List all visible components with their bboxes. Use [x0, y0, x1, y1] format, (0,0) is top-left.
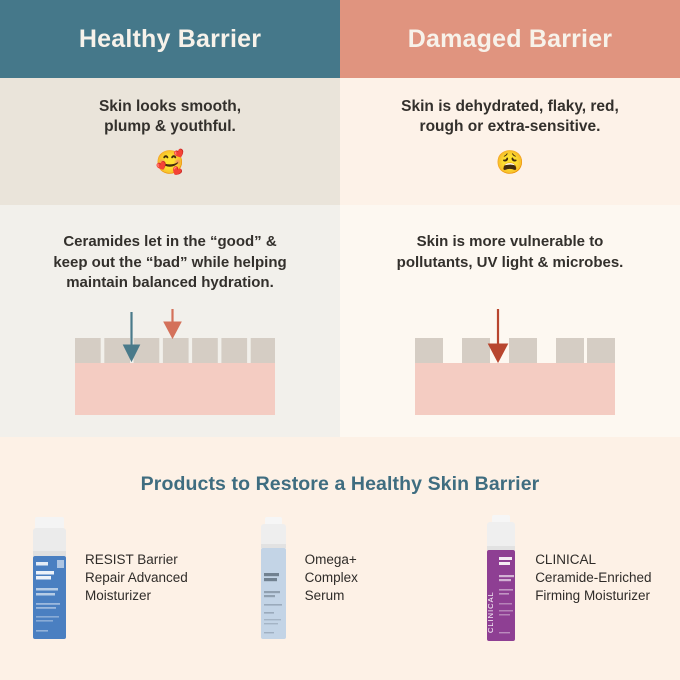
omega-complex-serum-bottle [253, 515, 293, 641]
damaged-barrier-title: Damaged Barrier [408, 27, 612, 52]
healthy-barrier-column: Healthy Barrier Skin looks smooth, plump… [0, 0, 340, 437]
product-item-clinical[interactable]: CLINICAL CLINICAL Ceramide-Enriched Firm… [453, 513, 680, 643]
damaged-barrier-diagram [340, 305, 680, 420]
healthy-barrier-header: Healthy Barrier [0, 0, 340, 78]
healthy-lead-block: Skin looks smooth, plump & youthful. 🥰 [0, 97, 340, 174]
product-item-resist[interactable]: RESIST Barrier Repair Advanced Moisturiz… [0, 513, 227, 643]
product-name-resist: RESIST Barrier Repair Advanced Moisturiz… [85, 551, 188, 605]
irritant-arrow [489, 309, 508, 362]
products-section-title: Products to Restore a Healthy Skin Barri… [0, 437, 680, 496]
damaged-body-text: Skin is more vulnerable to pollutants, U… [340, 232, 680, 273]
healthy-brick-row [75, 338, 275, 363]
resist-barrier-repair-moisturizer-bottle [26, 515, 73, 641]
smiling-face-with-hearts-emoji: 🥰 [0, 151, 340, 174]
damaged-barrier-header: Damaged Barrier [340, 0, 680, 78]
damaged-lead-text: Skin is dehydrated, flaky, red, rough or… [340, 97, 680, 138]
bad-ingredient-arrow [164, 309, 181, 338]
damaged-barrier-column: Damaged Barrier Skin is dehydrated, flak… [340, 0, 680, 437]
clinical-ceramide-firming-moisturizer-bottle: CLINICAL [479, 513, 523, 643]
product-name-clinical: CLINICAL Ceramide-Enriched Firming Moist… [535, 551, 651, 605]
healthy-barrier-title: Healthy Barrier [79, 27, 261, 52]
healthy-barrier-diagram [0, 305, 340, 420]
damaged-lead-block: Skin is dehydrated, flaky, red, rough or… [340, 97, 680, 174]
healthy-body-block: Ceramides let in the “good” & keep out t… [0, 232, 340, 294]
product-item-omega[interactable]: Omega+ Complex Serum [227, 513, 454, 643]
weary-face-emoji: 😩 [340, 151, 680, 174]
product-name-omega: Omega+ Complex Serum [305, 551, 358, 605]
products-section: Products to Restore a Healthy Skin Barri… [0, 437, 680, 680]
healthy-lead-text: Skin looks smooth, plump & youthful. [0, 97, 340, 138]
barrier-comparison-section: Healthy Barrier Skin looks smooth, plump… [0, 0, 680, 437]
skin-barrier-infographic: Healthy Barrier Skin looks smooth, plump… [0, 0, 680, 680]
damaged-body-block: Skin is more vulnerable to pollutants, U… [340, 232, 680, 273]
healthy-body-text: Ceramides let in the “good” & keep out t… [0, 232, 340, 294]
svg-text:CLINICAL: CLINICAL [486, 591, 495, 633]
product-list: RESIST Barrier Repair Advanced Moisturiz… [0, 513, 680, 643]
damaged-brick-row [415, 338, 615, 363]
